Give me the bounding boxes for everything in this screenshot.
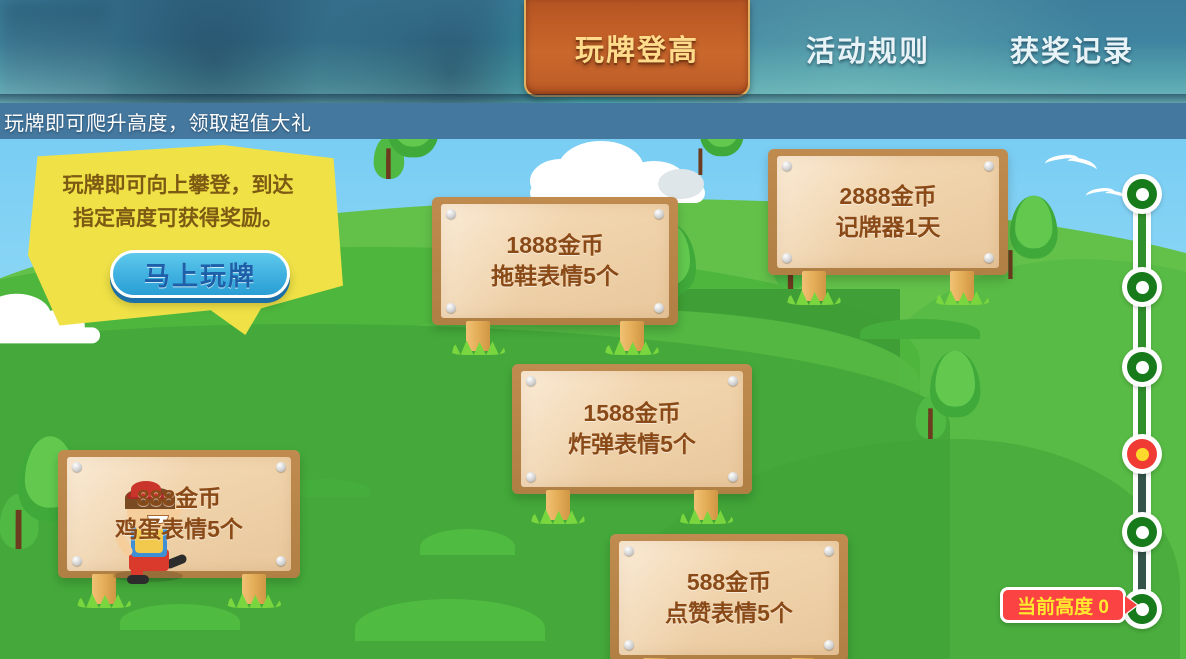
screw-icon bbox=[728, 472, 738, 482]
screw-icon bbox=[446, 303, 456, 313]
screw-icon bbox=[824, 546, 834, 556]
tab-climb-label: 玩牌登高 bbox=[575, 27, 699, 69]
screw-icon bbox=[824, 640, 834, 650]
character-shoe bbox=[127, 575, 149, 584]
screw-icon bbox=[728, 376, 738, 386]
sign-line-2: 炸弹表情5个 bbox=[568, 429, 696, 460]
screw-icon bbox=[526, 376, 536, 386]
screw-icon bbox=[984, 161, 994, 171]
tip-bubble-text: 玩牌即可向上攀登，到达指定高度可获得奖励。 bbox=[28, 170, 328, 235]
sign-line-1: 2888金币 bbox=[839, 181, 936, 212]
screw-icon bbox=[72, 556, 82, 566]
height-progress-track bbox=[1120, 172, 1164, 632]
sign-line-1: 888金币 bbox=[137, 483, 221, 514]
page-header: 玩牌登高 活动规则 获奖记录 bbox=[0, 0, 1186, 103]
track-node-3[interactable] bbox=[1122, 347, 1162, 387]
screw-icon bbox=[446, 209, 456, 219]
subtitle-bar: 玩牌即可爬升高度，领取超值大礼 bbox=[0, 103, 1186, 139]
current-height-badge: 当前高度 0 bbox=[1000, 587, 1126, 623]
track-rail-filled bbox=[1138, 196, 1146, 462]
tab-bar: 玩牌登高 活动规则 获奖记录 bbox=[0, 0, 1186, 103]
sign-line-2: 拖鞋表情5个 bbox=[491, 261, 619, 292]
reward-sign-1588[interactable]: 1588金币 炸弹表情5个 bbox=[512, 364, 752, 494]
track-node-1[interactable] bbox=[1122, 174, 1162, 214]
current-height-label: 当前高度 0 bbox=[1017, 592, 1109, 619]
tab-winners-label: 获奖记录 bbox=[1010, 28, 1134, 70]
sign-line-1: 588金币 bbox=[687, 567, 771, 598]
screw-icon bbox=[526, 472, 536, 482]
reward-sign-588[interactable]: 588金币 点赞表情5个 bbox=[610, 534, 848, 659]
screw-icon bbox=[276, 462, 286, 472]
reward-sign-1888[interactable]: 1888金币 拖鞋表情5个 bbox=[432, 197, 678, 325]
screw-icon bbox=[782, 253, 792, 263]
promo-page: 玩牌登高 活动规则 获奖记录 玩牌即可爬升高度，领取超值大礼 bbox=[0, 0, 1186, 659]
subtitle-text: 玩牌即可爬升高度，领取超值大礼 bbox=[0, 107, 312, 136]
screw-icon bbox=[72, 462, 82, 472]
screw-icon bbox=[624, 546, 634, 556]
screw-icon bbox=[984, 253, 994, 263]
sign-line-2: 鸡蛋表情5个 bbox=[115, 514, 243, 545]
play-now-label: 马上玩牌 bbox=[144, 256, 256, 293]
screw-icon bbox=[624, 640, 634, 650]
track-node-2[interactable] bbox=[1122, 267, 1162, 307]
play-now-button[interactable]: 马上玩牌 bbox=[110, 250, 290, 298]
sign-line-2: 点赞表情5个 bbox=[665, 598, 793, 629]
tab-winners[interactable]: 获奖记录 bbox=[982, 0, 1162, 97]
bird-icon bbox=[1045, 155, 1097, 172]
tab-climb[interactable]: 玩牌登高 bbox=[524, 0, 750, 97]
screw-icon bbox=[654, 303, 664, 313]
screw-icon bbox=[654, 209, 664, 219]
sign-line-1: 1588金币 bbox=[583, 398, 680, 429]
tab-rules[interactable]: 活动规则 bbox=[778, 0, 958, 97]
track-node-4-current[interactable] bbox=[1122, 434, 1162, 474]
screw-icon bbox=[276, 556, 286, 566]
sign-line-2: 记牌器1天 bbox=[836, 212, 941, 243]
tab-rules-label: 活动规则 bbox=[806, 28, 930, 70]
sign-line-1: 1888金币 bbox=[506, 230, 603, 261]
reward-sign-2888[interactable]: 2888金币 记牌器1天 bbox=[768, 149, 1008, 275]
track-node-5[interactable] bbox=[1122, 512, 1162, 552]
screw-icon bbox=[782, 161, 792, 171]
